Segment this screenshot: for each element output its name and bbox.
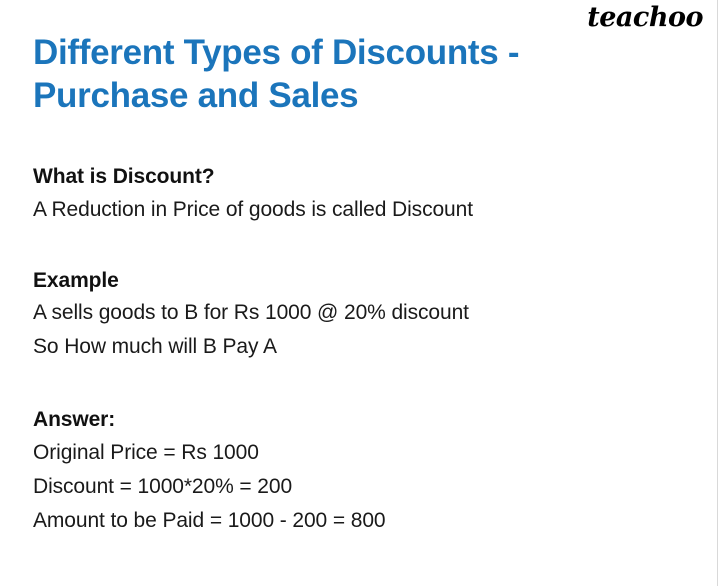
section-heading: What is Discount? xyxy=(33,161,673,193)
section-line: A sells goods to B for Rs 1000 @ 20% dis… xyxy=(33,296,673,330)
page-title-line-1: Different Types of Discounts - xyxy=(33,31,633,74)
section-heading: Example xyxy=(33,265,673,297)
section-line: Discount = 1000*20% = 200 xyxy=(33,470,673,504)
slide-canvas: teachoo Different Types of Discounts - P… xyxy=(0,0,718,586)
section-line: So How much will B Pay A xyxy=(33,330,673,364)
section-gap xyxy=(33,227,673,265)
page-title-line-2: Purchase and Sales xyxy=(33,74,633,117)
section-line: Amount to be Paid = 1000 - 200 = 800 xyxy=(33,504,673,538)
teachoo-logo: teachoo xyxy=(587,4,703,31)
page-title: Different Types of Discounts - Purchase … xyxy=(33,31,633,117)
section-line: A Reduction in Price of goods is called … xyxy=(33,193,673,227)
section-what-is-discount: What is Discount? A Reduction in Price o… xyxy=(33,161,673,227)
section-gap xyxy=(33,364,673,404)
section-example: Example A sells goods to B for Rs 1000 @… xyxy=(33,265,673,365)
slide-body: What is Discount? A Reduction in Price o… xyxy=(33,161,673,538)
section-heading: Answer: xyxy=(33,404,673,436)
section-answer: Answer: Original Price = Rs 1000 Discoun… xyxy=(33,404,673,538)
section-line: Original Price = Rs 1000 xyxy=(33,436,673,470)
